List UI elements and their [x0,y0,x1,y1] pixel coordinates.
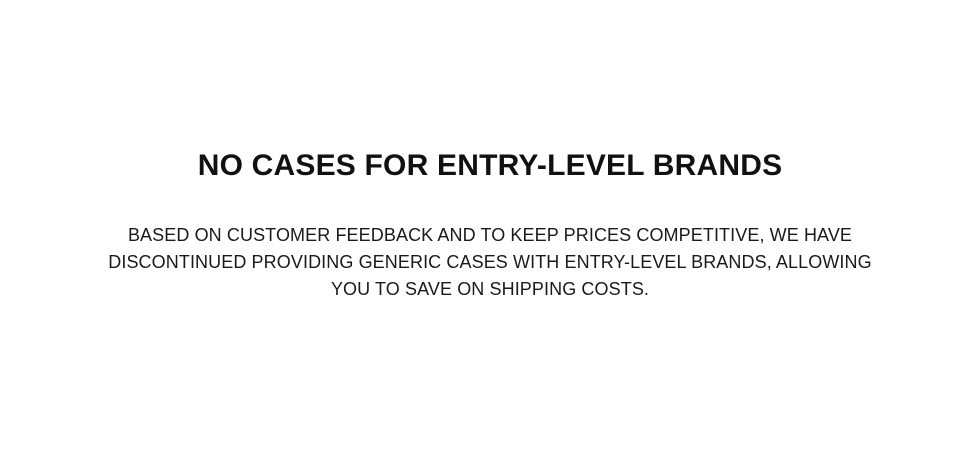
promo-description: BASED ON CUSTOMER FEEDBACK AND TO KEEP P… [90,182,890,303]
promo-description-line: BASED ON CUSTOMER FEEDBACK AND TO KEEP P… [90,222,890,249]
promo-content: NO CASES FOR ENTRY-LEVEL BRANDS BASED ON… [0,150,980,303]
promo-description-line: DISCONTINUED PROVIDING GENERIC CASES WIT… [90,249,890,276]
promo-banner: NO CASES FOR ENTRY-LEVEL BRANDS BASED ON… [0,0,980,450]
promo-description-line: YOU TO SAVE ON SHIPPING COSTS. [90,276,890,303]
promo-heading: NO CASES FOR ENTRY-LEVEL BRANDS [0,150,980,182]
